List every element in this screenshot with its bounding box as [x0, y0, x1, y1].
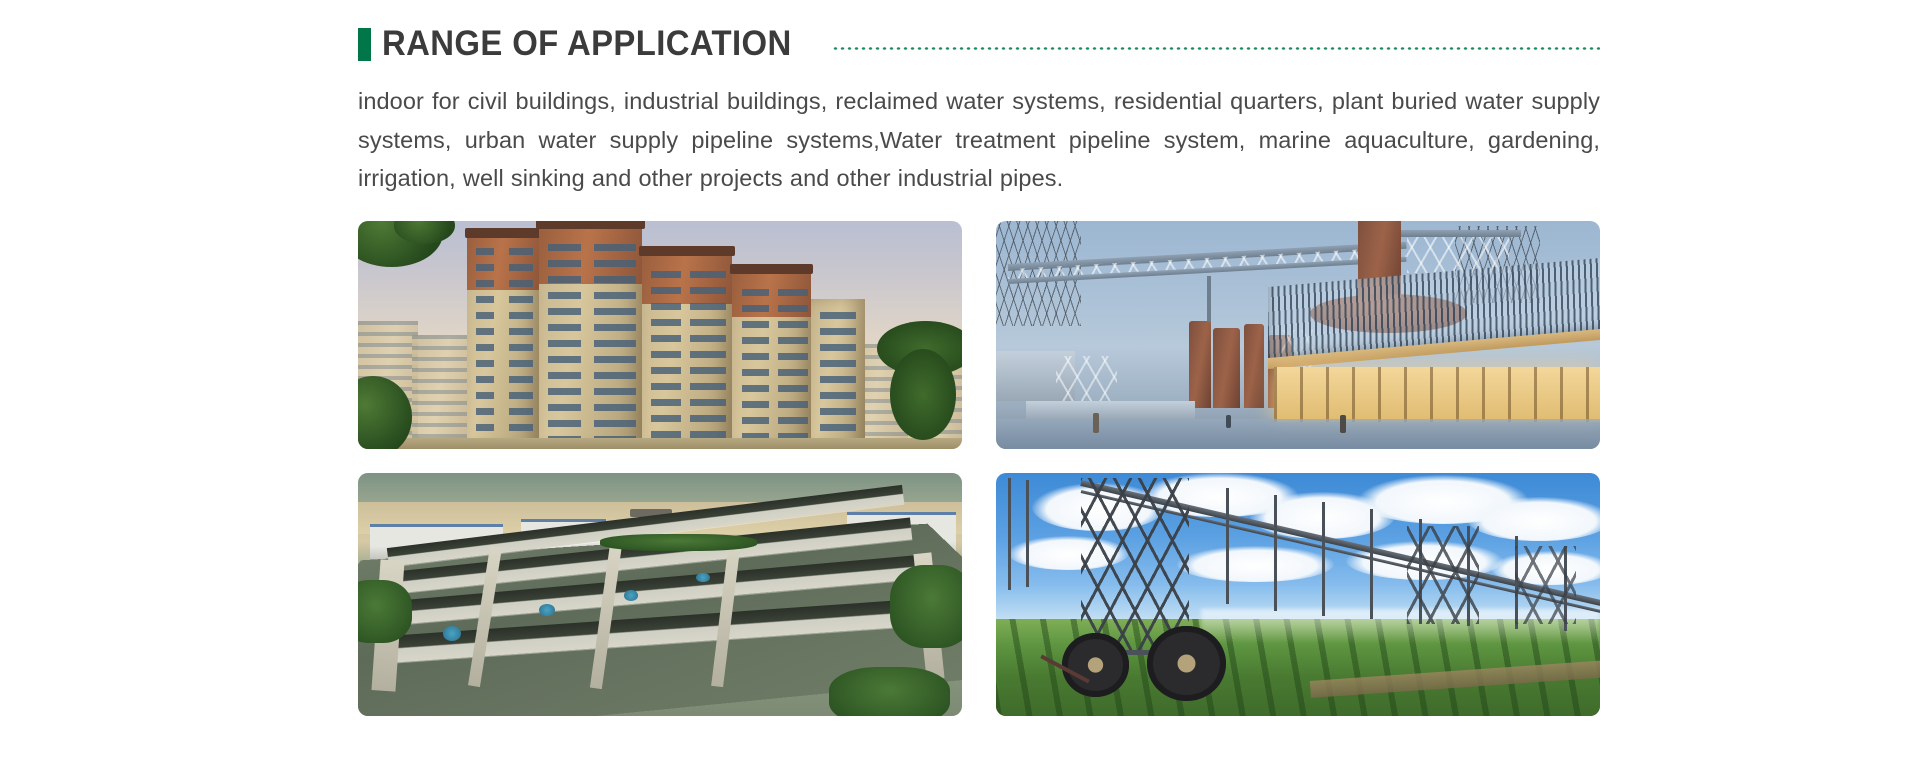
page-root: RANGE OF APPLICATION indoor for civil bu… [0, 0, 1920, 780]
content-container: RANGE OF APPLICATION indoor for civil bu… [358, 0, 1600, 716]
drop-hose [1026, 480, 1029, 587]
drop-hose [1226, 488, 1229, 605]
pivot-a-frame-tower [1407, 526, 1479, 623]
drop-hose [1274, 495, 1277, 612]
image-residential-buildings[interactable] [358, 221, 962, 449]
vegetation [600, 534, 757, 551]
illuminated-glass-facade [1274, 367, 1600, 422]
window-strip [742, 289, 769, 449]
reflecting-pool [996, 419, 1600, 449]
window-strip [690, 271, 726, 449]
window-strip [509, 248, 533, 444]
window-strip [820, 312, 856, 449]
drop-hose [1370, 509, 1373, 618]
pivot-a-frame-tower [1515, 546, 1575, 624]
clarifier-mechanism [624, 590, 638, 601]
plaza-pavilion [1026, 401, 1195, 419]
residential-scene [358, 221, 962, 449]
industrial-scene [996, 221, 1600, 449]
cloud [1467, 497, 1600, 541]
palm-tree [890, 349, 956, 440]
upper-gantry [1401, 230, 1522, 237]
image-irrigation-system[interactable] [996, 473, 1600, 716]
chimney [1189, 321, 1211, 408]
background-tower [412, 335, 466, 449]
clarifier-mechanism [443, 626, 461, 641]
person-figure [1093, 413, 1100, 434]
irrigation-scene [996, 473, 1600, 716]
tractor-wheel [1147, 626, 1226, 701]
window-strip [651, 271, 681, 449]
dotted-divider [832, 46, 1600, 51]
section-header: RANGE OF APPLICATION [358, 18, 1600, 70]
scaffold-structure [1056, 356, 1116, 406]
cloud [1177, 546, 1334, 582]
window-strip [476, 248, 494, 444]
drop-hose [1008, 478, 1011, 590]
window-strip [548, 244, 581, 445]
vegetation [890, 565, 962, 648]
description-text: indoor for civil buildings, industrial b… [358, 82, 1600, 198]
chimney [1244, 324, 1265, 408]
vegetation [358, 580, 412, 643]
vegetation [829, 667, 950, 716]
window-strip [594, 244, 636, 445]
page-title: RANGE OF APPLICATION [382, 26, 792, 62]
clarifier-mechanism [696, 573, 709, 583]
application-image-grid [358, 221, 1600, 716]
accent-bar-icon [358, 28, 371, 61]
image-water-treatment-plant[interactable] [358, 473, 962, 716]
pivot-a-frame-tower [1081, 478, 1190, 653]
ground-strip [358, 438, 962, 449]
tractor-wheel [1062, 633, 1128, 696]
person-figure [1226, 415, 1231, 429]
image-industrial-buildings[interactable] [996, 221, 1600, 449]
person-figure [1340, 415, 1346, 433]
water-treatment-scene [358, 473, 962, 716]
drop-hose [1322, 502, 1325, 616]
window-strip [778, 289, 808, 449]
chimney [1213, 328, 1240, 408]
